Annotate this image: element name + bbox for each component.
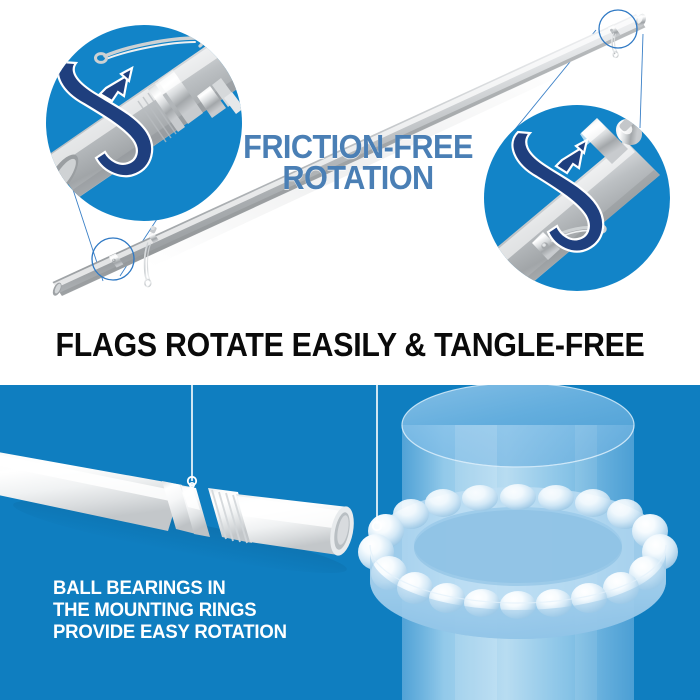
- feature-heading: FRICTION-FREE ROTATION: [241, 131, 475, 194]
- right-detail-circle: [477, 105, 670, 300]
- bearing-callout-text: BALL BEARINGS IN THE MOUNTING RINGS PROV…: [53, 578, 287, 643]
- bearing-callout-line3: PROVIDE EASY ROTATION: [53, 622, 287, 644]
- bearing-callout-line2: THE MOUNTING RINGS: [53, 600, 287, 622]
- feature-heading-line2: ROTATION: [241, 162, 475, 193]
- infographic-root: FRICTION-FREE ROTATION FLAGS ROTATE EASI…: [0, 0, 700, 700]
- flagpole-end: [0, 447, 358, 585]
- page-title: FLAGS ROTATE EASILY & TANGLE-FREE: [33, 329, 667, 363]
- left-detail-circle: [40, 25, 262, 221]
- bottom-panel-illustration: [0, 385, 700, 700]
- bottom-panel: [0, 385, 700, 700]
- bearing-callout-line1: BALL BEARINGS IN: [53, 578, 287, 600]
- ball-bearing-ring: [358, 484, 678, 639]
